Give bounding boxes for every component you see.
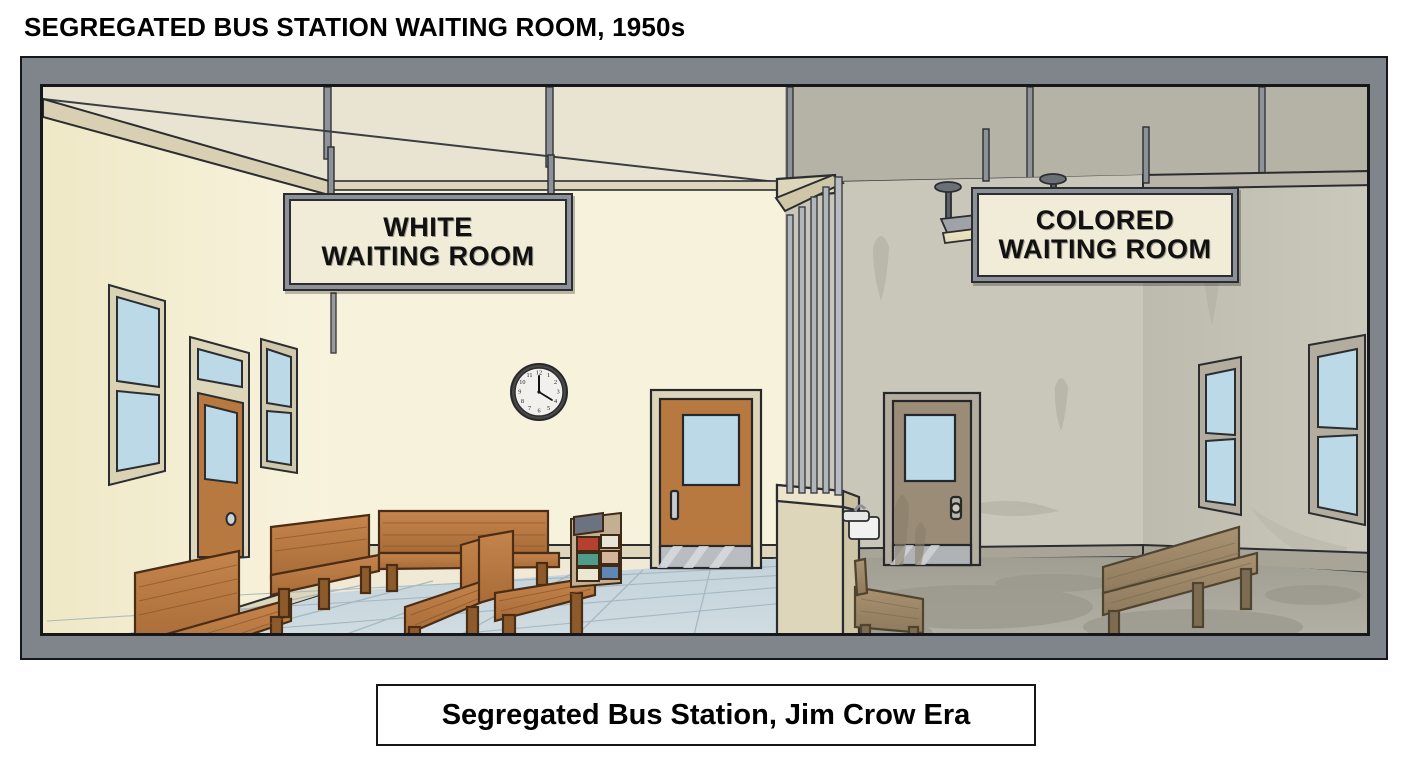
- svg-text:7: 7: [528, 405, 531, 412]
- svg-text:1: 1: [547, 372, 550, 379]
- scene-artwork: [43, 87, 1370, 636]
- colored-waiting-room-sign: COLORED WAITING ROOM: [971, 187, 1239, 283]
- svg-text:11: 11: [527, 372, 533, 379]
- svg-text:6: 6: [537, 407, 540, 414]
- white-sign-line1: WHITE: [383, 213, 473, 242]
- caption-text: Segregated Bus Station, Jim Crow Era: [442, 699, 971, 732]
- svg-text:5: 5: [547, 405, 550, 412]
- page-title: SEGREGATED BUS STATION WAITING ROOM, 195…: [24, 12, 685, 43]
- svg-text:8: 8: [521, 398, 524, 405]
- illustration-frame: WHITE WAITING ROOM COLORED WAITING ROOM …: [20, 56, 1388, 660]
- colored-sign-line1: COLORED: [1036, 206, 1175, 235]
- waiting-room-scene: WHITE WAITING ROOM COLORED WAITING ROOM …: [40, 84, 1370, 636]
- svg-text:9: 9: [518, 388, 521, 395]
- wall-clock: 1212 345 678 91011: [509, 362, 569, 422]
- caption-box: Segregated Bus Station, Jim Crow Era: [376, 684, 1036, 746]
- colored-sign-line2: WAITING ROOM: [999, 235, 1212, 264]
- svg-text:3: 3: [557, 388, 560, 395]
- svg-text:2: 2: [554, 379, 557, 386]
- white-sign-line2: WAITING ROOM: [322, 242, 535, 271]
- svg-text:10: 10: [519, 379, 525, 386]
- white-waiting-room-sign: WHITE WAITING ROOM: [283, 193, 573, 291]
- svg-text:4: 4: [554, 398, 557, 405]
